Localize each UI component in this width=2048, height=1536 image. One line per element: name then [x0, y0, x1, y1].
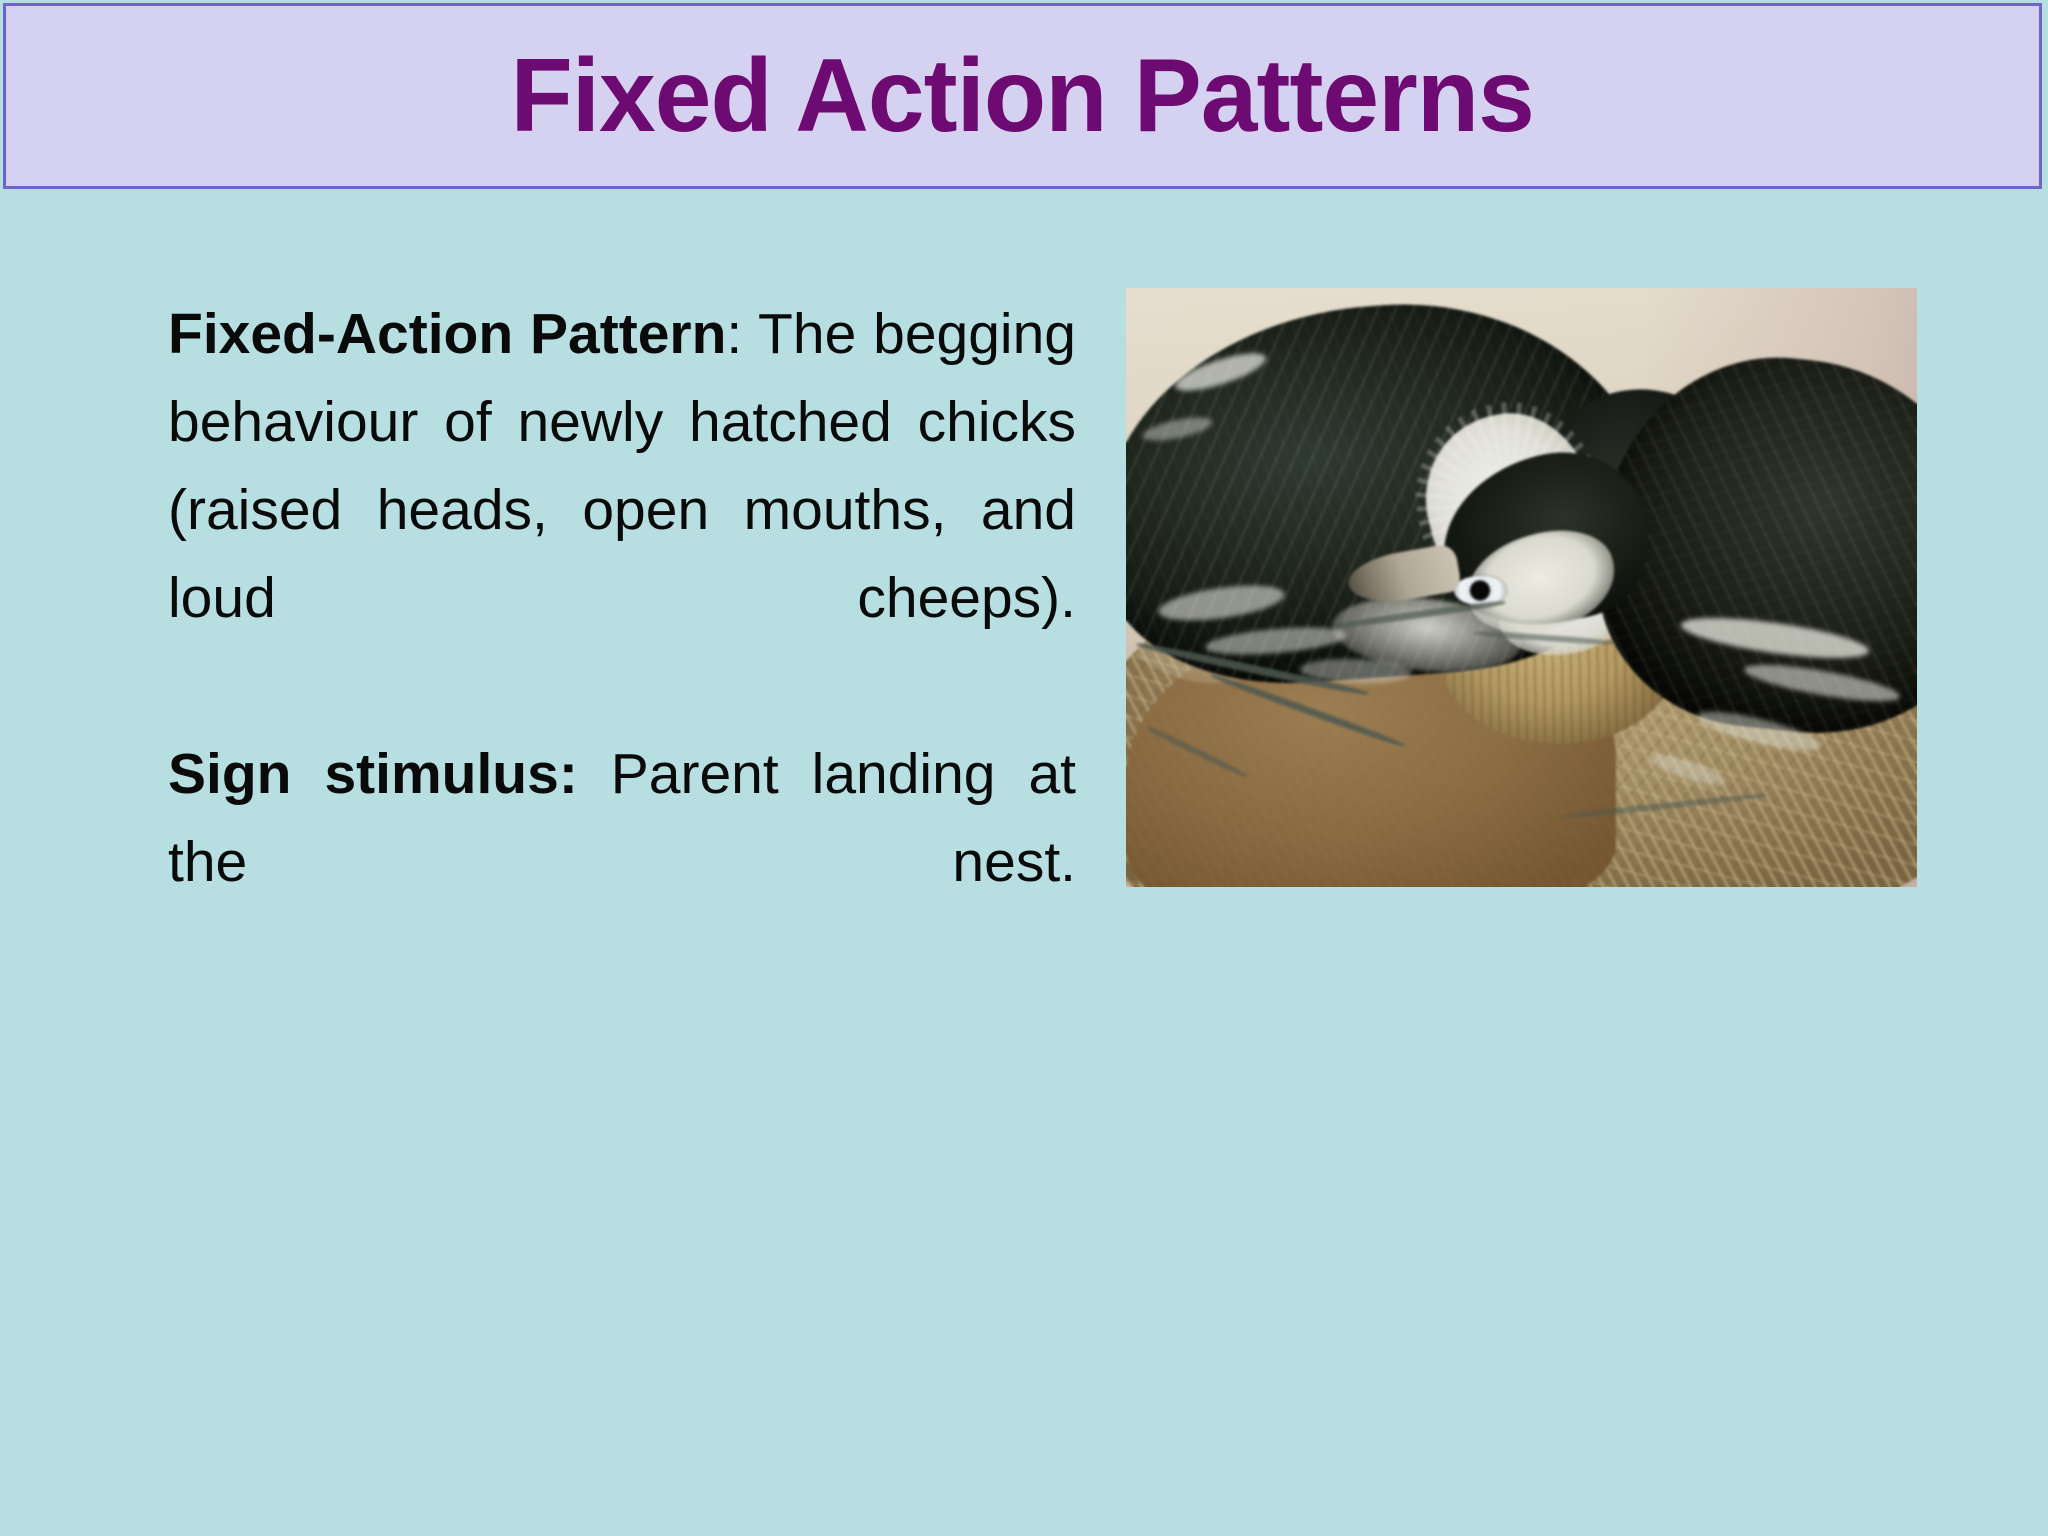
page-title: Fixed Action Patterns [511, 44, 1534, 148]
paragraph-sign-stimulus: Sign stimulus: Parent landing at the nes… [168, 730, 1076, 994]
slide: Fixed Action Patterns Fixed-Action Patte… [0, 0, 2048, 1536]
term-sign-stimulus: Sign stimulus: [168, 742, 578, 806]
body-text-column: Fixed-Action Pattern: The begging behavi… [168, 290, 1076, 994]
nest-feeding-photo [1126, 288, 1917, 887]
term-fixed-action-pattern: Fixed-Action Pattern [168, 302, 726, 366]
photo-canvas [1126, 288, 1917, 887]
title-bar: Fixed Action Patterns [3, 3, 2042, 189]
paragraph-fixed-action-pattern: Fixed-Action Pattern: The begging behavi… [168, 290, 1076, 730]
